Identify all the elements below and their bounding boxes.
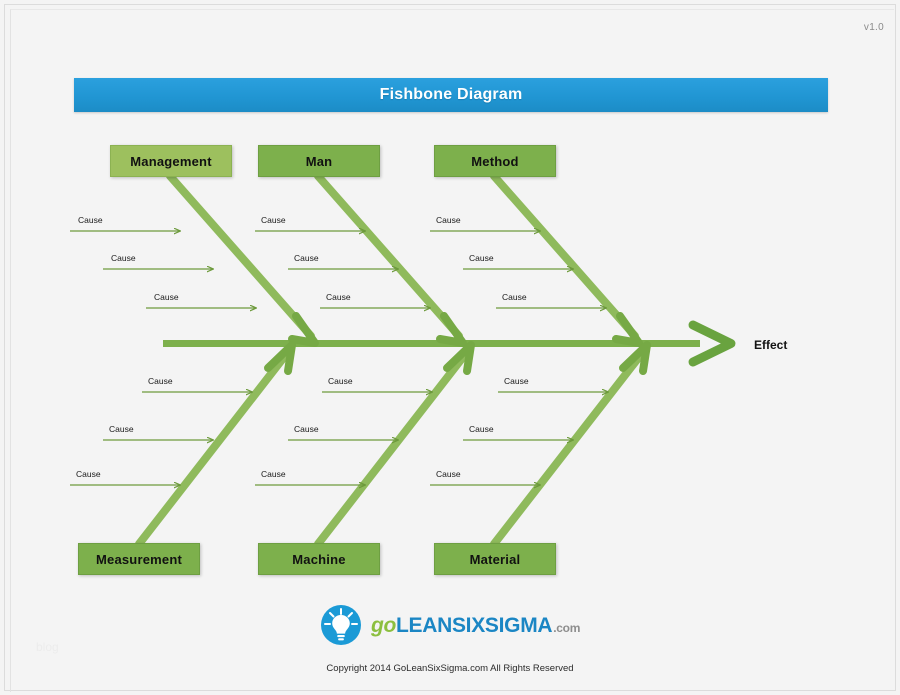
cause-label: Cause	[261, 469, 286, 479]
cause-label: Cause	[469, 424, 494, 434]
rib-arrow-icon	[292, 316, 315, 343]
category-label: Management	[130, 154, 211, 169]
rib-bottom-material	[494, 345, 647, 544]
category-box-management[interactable]: Management	[110, 145, 232, 177]
cause-label: Cause	[469, 253, 494, 263]
cause-label: Cause	[261, 215, 286, 225]
lightbulb-logo-icon	[320, 604, 362, 646]
cause-label: Cause	[436, 469, 461, 479]
cause-label: Cause	[326, 292, 351, 302]
footer: goLEANSIXSIGMA.com Copyright 2014 GoLean…	[0, 604, 900, 674]
cause-label: Cause	[502, 292, 527, 302]
cause-label: Cause	[148, 376, 173, 386]
cause-label: Cause	[328, 376, 353, 386]
cause-label: Cause	[111, 253, 136, 263]
effect-label: Effect	[754, 338, 787, 352]
category-box-material[interactable]: Material	[434, 543, 556, 575]
category-label: Method	[471, 154, 518, 169]
blog-watermark: blog	[36, 640, 59, 654]
category-box-method[interactable]: Method	[434, 145, 556, 177]
logo-dotcom-text: .com	[553, 622, 580, 634]
cause-label: Cause	[78, 215, 103, 225]
brand-logo[interactable]: goLEANSIXSIGMA.com	[320, 604, 580, 646]
rib-top-method	[494, 176, 639, 343]
category-label: Man	[306, 154, 333, 169]
cause-label: Cause	[294, 253, 319, 263]
cause-label: Cause	[76, 469, 101, 479]
logo-go-text: go	[371, 615, 396, 636]
category-label: Material	[470, 552, 521, 567]
category-box-measurement[interactable]: Measurement	[78, 543, 200, 575]
rib-arrow-icon	[616, 316, 639, 343]
fishbone-diagram-page: v1.0 Fishbone Diagram	[0, 0, 900, 695]
cause-label: Cause	[504, 376, 529, 386]
category-box-machine[interactable]: Machine	[258, 543, 380, 575]
rib-arrow-icon	[440, 316, 463, 343]
rib-bottom-measurement	[139, 345, 292, 544]
cause-label: Cause	[294, 424, 319, 434]
brand-wordmark: goLEANSIXSIGMA.com	[371, 615, 580, 636]
cause-label: Cause	[154, 292, 179, 302]
rib-top-man	[318, 176, 463, 343]
rib-bottom-machine	[318, 345, 471, 544]
cause-label: Cause	[109, 424, 134, 434]
category-label: Machine	[292, 552, 345, 567]
cause-label: Cause	[436, 215, 461, 225]
logo-lean-text: LEANSIXSIGMA	[396, 615, 552, 636]
copyright-text: Copyright 2014 GoLeanSixSigma.com All Ri…	[0, 663, 900, 674]
category-label: Measurement	[96, 552, 182, 567]
category-box-man[interactable]: Man	[258, 145, 380, 177]
